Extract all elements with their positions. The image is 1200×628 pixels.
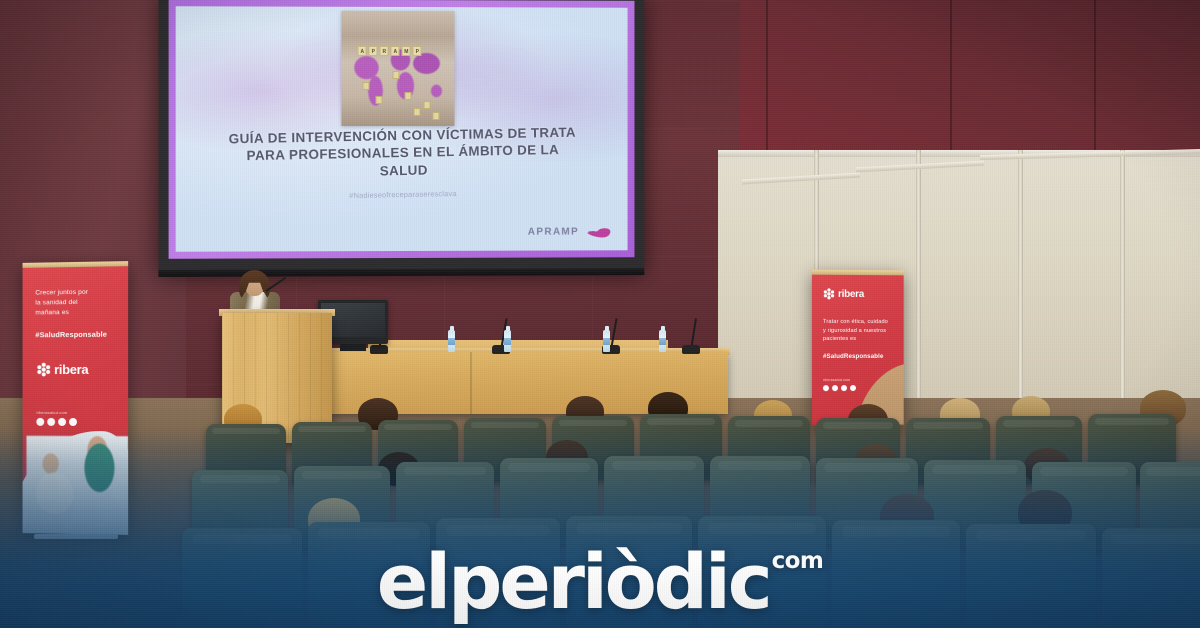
scrabble-tile: A xyxy=(358,45,367,55)
water-bottle xyxy=(504,330,511,352)
blind-divider xyxy=(1120,150,1125,435)
scrabble-tile: A xyxy=(391,45,400,55)
water-bottle xyxy=(448,330,455,352)
window-blinds xyxy=(718,150,1200,435)
scrabble-tiles: A P R A M P xyxy=(358,45,422,55)
instagram-icon xyxy=(58,418,66,426)
scrabble-tile: M xyxy=(402,45,411,55)
banner-top-rail xyxy=(812,270,904,276)
water-bottle xyxy=(603,330,610,352)
wall-seam xyxy=(1094,0,1096,160)
audience-seat xyxy=(1102,528,1200,628)
scrabble-tile: P xyxy=(369,45,378,55)
banner-right-url: riberasalud.com xyxy=(823,378,856,382)
social-icons-left xyxy=(36,418,77,426)
banner-top-rail xyxy=(23,261,129,268)
presentation-slide: A P R A M P GUÍA DE INT xyxy=(176,6,628,252)
slide-hashtag: #Nadieseofreceparaseresclava xyxy=(176,186,628,204)
apramp-hand-icon xyxy=(586,224,612,239)
banner-left-hashtag: #SaludResponsable xyxy=(35,330,118,340)
audience-seat xyxy=(308,522,430,628)
facebook-icon xyxy=(823,385,829,391)
ribera-logo-left: ribera xyxy=(36,362,88,377)
slide-brand-lockup: APRAMP xyxy=(528,224,612,239)
banner-left-base xyxy=(34,534,118,539)
blind-divider xyxy=(1018,150,1023,435)
ribera-wordmark-right: ribera xyxy=(838,288,864,299)
twitter-icon xyxy=(832,385,838,391)
audience-seat xyxy=(832,520,960,628)
twitter-icon xyxy=(47,418,55,426)
bottle-label xyxy=(448,338,455,345)
bottle-label xyxy=(659,338,666,345)
banner-right-line-3: pacientes es xyxy=(823,335,896,344)
banner-left-url: riberasalud.com xyxy=(36,410,77,415)
banner-ribera-left: Crecer juntos por la sanidad del mañana … xyxy=(23,261,129,535)
scrabble-tile-loose xyxy=(393,71,400,79)
instagram-icon xyxy=(841,385,847,391)
audience-seat xyxy=(966,524,1096,628)
social-icons-right xyxy=(823,385,856,391)
banner-right-line-1: Tratar con ética, cuidado xyxy=(823,318,896,327)
scrabble-tile: R xyxy=(380,45,389,55)
banner-ribera-right: ribera Tratar con ética, cuidado y rigur… xyxy=(812,270,904,426)
audience-seat xyxy=(182,528,302,628)
ribera-flower-icon xyxy=(823,288,835,300)
audience-seat xyxy=(566,516,692,628)
slide-title: GUÍA DE INTERVENCIÓN CON VÍCTIMAS DE TRA… xyxy=(189,123,615,184)
apramp-map-photo: A P R A M P xyxy=(342,11,455,126)
banner-left-line-3: mañana es xyxy=(35,308,118,319)
scrabble-tile-loose xyxy=(362,82,369,90)
scrabble-tile-loose xyxy=(432,112,439,120)
apramp-wordmark: APRAMP xyxy=(528,227,579,238)
bottle-label xyxy=(603,338,610,345)
blind-divider xyxy=(916,150,921,435)
microphone-base xyxy=(370,345,388,354)
table-seam xyxy=(470,352,472,414)
linkedin-icon xyxy=(850,385,856,391)
banner-right-hashtag: #SaludResponsable xyxy=(823,352,896,359)
banner-right-line-2: y rigurosidad a nuestros xyxy=(823,326,896,335)
audience-seat xyxy=(436,518,560,628)
scrabble-tile-loose xyxy=(413,108,420,116)
microphone-base xyxy=(682,345,700,354)
scrabble-tile: P xyxy=(413,46,422,56)
water-bottle xyxy=(659,330,666,352)
ribera-logo-right: ribera xyxy=(823,288,864,300)
ribera-flower-icon xyxy=(36,362,51,377)
projection-screen: A P R A M P GUÍA DE INT xyxy=(158,0,644,271)
photo-canvas: A P R A M P GUÍA DE INT xyxy=(0,0,1200,628)
screen-border: A P R A M P GUÍA DE INT xyxy=(169,0,635,259)
banner-patient-photo xyxy=(27,436,128,530)
scrabble-tile-loose xyxy=(404,92,411,100)
bottle-label xyxy=(504,338,511,345)
scrabble-tile-loose xyxy=(376,96,383,104)
linkedin-icon xyxy=(69,418,77,426)
ribera-wordmark-left: ribera xyxy=(54,362,88,377)
audience-seat xyxy=(698,516,826,628)
scrabble-tile-loose xyxy=(423,101,430,109)
facebook-icon xyxy=(36,418,44,426)
